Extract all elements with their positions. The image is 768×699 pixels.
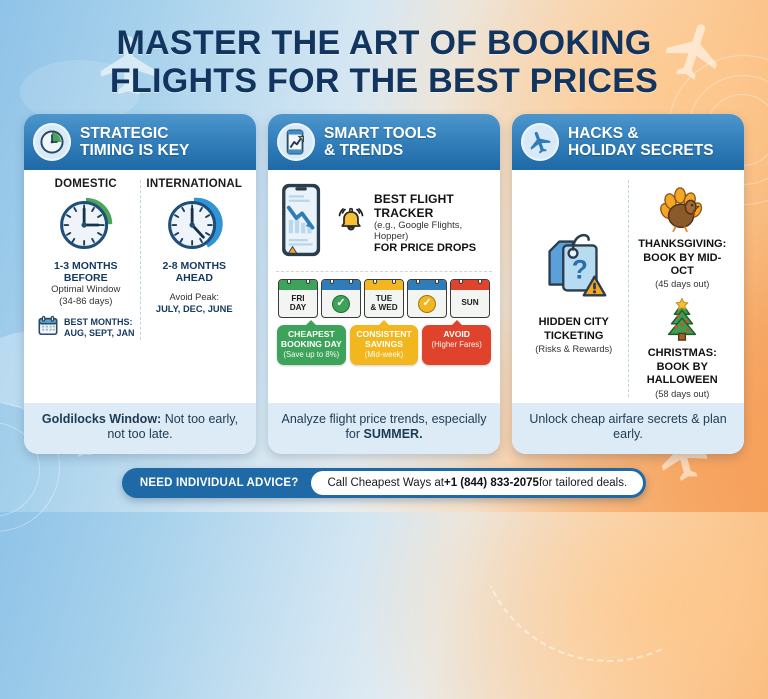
pills-row: CHEAPEST BOOKING DAY (Save up to 8%) CON… [276, 318, 492, 367]
footer-strong: SUMMER. [364, 427, 423, 441]
cal-sunday: SUN [450, 279, 490, 318]
card-strategic-timing: STRATEGIC TIMING IS KEY DOMESTIC [24, 114, 256, 454]
avoid-peak-label: Avoid Peak: [145, 291, 245, 303]
cal-check-green: ✓ [321, 279, 361, 318]
phone-chart-icon [277, 123, 315, 161]
airplane-icon [521, 123, 559, 161]
bell-alert-icon [336, 204, 366, 241]
svg-text:?: ? [572, 255, 588, 285]
cal-sunday-l1: SUN [461, 299, 478, 308]
column-title: INTERNATIONAL [145, 178, 245, 190]
cal-check-amber: ✓ [407, 279, 447, 318]
card-smart-tools: SMART TOOLS & TRENDS [268, 114, 500, 454]
international-lead: 2-8 MONTHS AHEAD [145, 260, 245, 284]
christmas-title: CHRISTMAS: BOOK BY HALLOWEEN [633, 347, 733, 387]
clock-blue-wedge-icon [145, 195, 245, 255]
cal-tuewed-l2: & WED [370, 304, 397, 313]
pill-avoid: AVOID (Higher Fares) [422, 325, 491, 365]
best-months-label: BEST MONTHS: [64, 317, 135, 328]
card-header-hacks-holiday: HACKS & HOLIDAY SECRETS [512, 114, 744, 170]
card-body-hacks-holiday: ? HIDDEN CITY TICKETING (Risks & Rewards… [512, 170, 744, 402]
check-icon: ✓ [418, 295, 436, 313]
card-hacks-holiday: HACKS & HOLIDAY SECRETS ? [512, 114, 744, 454]
section-divider [276, 271, 492, 272]
pill-consistent: CONSISTENT SAVINGS (Mid-week) [350, 325, 419, 365]
card-header-smart-tools: SMART TOOLS & TRENDS [268, 114, 500, 170]
column-title: DOMESTIC [36, 178, 136, 190]
hidden-city-title: HIDDEN CITY TICKETING [524, 316, 624, 343]
cal-friday: FRIDAY [278, 279, 318, 318]
pill-cheapest: CHEAPEST BOOKING DAY (Save up to 8%) [277, 325, 346, 365]
holiday-christmas: CHRISTMAS: BOOK BY HALLOWEEN (58 days ou… [633, 295, 733, 398]
calendar-icon [37, 315, 59, 342]
cards-row: STRATEGIC TIMING IS KEY DOMESTIC [0, 100, 768, 454]
card-body-smart-tools: BEST FLIGHT TRACKER (e.g., Google Flight… [268, 170, 500, 402]
christmas-sub: (58 days out) [633, 389, 733, 399]
avoid-peak-value: JULY, DEC, JUNE [145, 303, 245, 315]
column-hidden-city: ? HIDDEN CITY TICKETING (Risks & Rewards… [520, 178, 628, 398]
cta-text-before: Call Cheapest Ways at [327, 477, 444, 489]
cal-tue-wed: TUE& WED [364, 279, 404, 318]
hidden-city-sub: (Risks & Rewards) [524, 344, 624, 354]
clock-icon [33, 123, 71, 161]
pill-consistent-title: CONSISTENT SAVINGS [353, 330, 416, 350]
card-footer-hacks-holiday: Unlock cheap airfare secrets & plan earl… [512, 403, 744, 454]
cta-bar: NEED INDIVIDUAL ADVICE? Call Cheapest Wa… [0, 468, 768, 498]
clock-green-wedge-icon [36, 195, 136, 255]
christmas-tree-icon [633, 295, 733, 343]
pill-cheapest-title: CHEAPEST BOOKING DAY [280, 330, 343, 350]
cta-phone-number[interactable]: +1 (844) 833-2075 [444, 477, 539, 489]
pill-avoid-title: AVOID [425, 330, 488, 340]
smartphone-price-drop-icon [278, 182, 328, 263]
page-title-line2: FLIGHTS FOR THE BEST PRICES [40, 62, 728, 100]
best-months-value: AUG, SEPT, JAN [64, 328, 135, 339]
column-international: INTERNATIONAL [141, 178, 249, 342]
card-footer-strategic-timing: Goldilocks Window: Not too early, not to… [24, 403, 256, 454]
domestic-sub1: Optimal Window [36, 284, 136, 296]
tracker-title: BEST FLIGHT TRACKER [374, 192, 490, 220]
cta-badge-label: NEED INDIVIDUAL ADVICE? [125, 471, 312, 495]
pill-avoid-sub: (Higher Fares) [425, 340, 488, 349]
tracker-subtitle: (e.g., Google Flights, Hopper) [374, 220, 490, 242]
footer-strong: Goldilocks Window: [42, 412, 161, 426]
turkey-icon [633, 178, 733, 234]
card-header-strategic-timing: STRATEGIC TIMING IS KEY [24, 114, 256, 170]
pill-cheapest-sub: (Save up to 8%) [280, 350, 343, 359]
domestic-lead: 1-3 MONTHS BEFORE [36, 260, 136, 284]
cta-phone-text[interactable]: Call Cheapest Ways at +1 (844) 833-2075 … [311, 471, 643, 495]
cta-text-after: for tailored deals. [539, 477, 627, 489]
card-title: STRATEGIC TIMING IS KEY [80, 125, 189, 160]
card-body-strategic-timing: DOMESTIC [24, 170, 256, 402]
pill-consistent-sub: (Mid-week) [353, 350, 416, 359]
check-icon: ✓ [332, 295, 350, 313]
luggage-tag-question-warning-icon: ? [524, 222, 624, 308]
thanksgiving-title: THANKSGIVING: BOOK BY MID-OCT [633, 238, 733, 278]
page-title: MASTER THE ART OF BOOKING FLIGHTS FOR TH… [0, 0, 768, 100]
card-title: HACKS & HOLIDAY SECRETS [568, 125, 714, 160]
cal-friday-l2: DAY [290, 304, 307, 313]
column-domestic: DOMESTIC [32, 178, 140, 342]
holiday-thanksgiving: THANKSGIVING: BOOK BY MID-OCT (45 days o… [633, 178, 733, 289]
page-title-line1: MASTER THE ART OF BOOKING [40, 24, 728, 62]
cta-pill[interactable]: NEED INDIVIDUAL ADVICE? Call Cheapest Wa… [122, 468, 646, 498]
domestic-sub2: (34-86 days) [36, 296, 136, 308]
tracker-tagline: FOR PRICE DROPS [374, 242, 490, 254]
card-footer-smart-tools: Analyze flight price trends, especially … [268, 403, 500, 454]
column-holidays: THANKSGIVING: BOOK BY MID-OCT (45 days o… [629, 178, 737, 398]
card-title: SMART TOOLS & TRENDS [324, 125, 437, 160]
calendar-badges-row: FRIDAY ✓ TUE& WED [276, 279, 492, 318]
thanksgiving-sub: (45 days out) [633, 279, 733, 289]
